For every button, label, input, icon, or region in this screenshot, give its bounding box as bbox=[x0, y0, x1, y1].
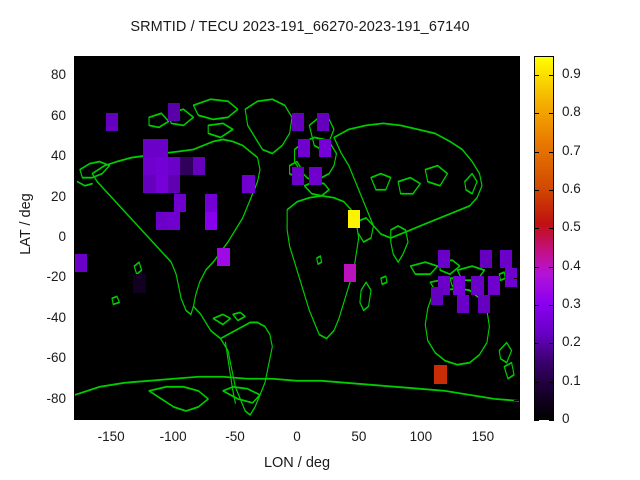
x-tick-mark bbox=[297, 56, 298, 62]
y-tick-mark bbox=[74, 198, 80, 199]
x-tick-label: 150 bbox=[453, 429, 513, 444]
colorbar-tick-label: 0 bbox=[562, 411, 570, 426]
colorbar-gradient bbox=[535, 57, 553, 419]
heatmap-cell bbox=[205, 194, 217, 212]
colorbar-tick-mark bbox=[534, 305, 539, 306]
y-tick-mark bbox=[74, 238, 80, 239]
heatmap-cell bbox=[471, 276, 483, 294]
heatmap-cell bbox=[319, 139, 331, 157]
colorbar-tick-mark bbox=[549, 420, 554, 421]
heatmap-cell bbox=[344, 264, 356, 282]
heatmap-cell bbox=[434, 365, 446, 383]
y-tick-mark bbox=[74, 157, 80, 158]
heatmap-cell bbox=[500, 250, 512, 268]
heatmap-cell bbox=[317, 113, 329, 131]
heatmap-cell bbox=[168, 212, 180, 230]
heatmap-cell bbox=[168, 175, 180, 193]
y-tick-mark bbox=[514, 400, 520, 401]
colorbar-tick-mark bbox=[534, 113, 539, 114]
heatmap-cell bbox=[168, 157, 180, 175]
heatmap-cell bbox=[292, 113, 304, 131]
heatmap-cell bbox=[168, 103, 180, 121]
y-tick-label: 60 bbox=[22, 108, 66, 123]
colorbar-tick-mark bbox=[549, 228, 554, 229]
y-tick-mark bbox=[514, 157, 520, 158]
x-tick-mark bbox=[235, 56, 236, 62]
colorbar-tick-label: 0.6 bbox=[562, 181, 581, 196]
x-tick-label: 100 bbox=[391, 429, 451, 444]
heatmap-cell bbox=[75, 254, 87, 272]
heatmap-cell bbox=[217, 248, 229, 266]
x-tick-mark bbox=[111, 414, 112, 420]
x-tick-label: -150 bbox=[81, 429, 141, 444]
heatmap-cell bbox=[298, 139, 310, 157]
y-tick-mark bbox=[74, 76, 80, 77]
y-tick-label: 80 bbox=[22, 67, 66, 82]
y-tick-mark bbox=[514, 238, 520, 239]
x-tick-mark bbox=[359, 414, 360, 420]
y-tick-mark bbox=[74, 359, 80, 360]
x-tick-label: 0 bbox=[267, 429, 327, 444]
y-tick-mark bbox=[514, 76, 520, 77]
y-tick-mark bbox=[514, 117, 520, 118]
map-plot-area bbox=[74, 56, 520, 420]
colorbar-tick-label: 0.2 bbox=[562, 334, 581, 349]
colorbar-tick-mark bbox=[549, 305, 554, 306]
x-tick-mark bbox=[173, 56, 174, 62]
colorbar-tick-label: 0.9 bbox=[562, 66, 581, 81]
colorbar-tick-label: 0.8 bbox=[562, 104, 581, 119]
heatmap-cell bbox=[180, 157, 192, 175]
heatmap-cell bbox=[156, 157, 168, 175]
heatmap-cell bbox=[488, 276, 500, 294]
colorbar-tick-mark bbox=[534, 420, 539, 421]
colorbar-tick-mark bbox=[549, 267, 554, 268]
y-tick-label: -40 bbox=[22, 310, 66, 325]
x-tick-mark bbox=[111, 56, 112, 62]
heatmap-cell bbox=[457, 295, 469, 313]
figure-canvas: SRMTID / TECU 2023-191_66270-2023-191_67… bbox=[0, 0, 640, 480]
heatmap-cell bbox=[453, 276, 465, 294]
heatmap-cell bbox=[143, 157, 155, 175]
x-tick-mark bbox=[483, 56, 484, 62]
y-axis-title: LAT / deg bbox=[18, 154, 34, 294]
heatmap-cell bbox=[348, 210, 360, 228]
heatmap-cell bbox=[156, 212, 168, 230]
colorbar-tick-label: 0.1 bbox=[562, 373, 581, 388]
heatmap-cell bbox=[292, 167, 304, 185]
x-tick-mark bbox=[235, 414, 236, 420]
y-tick-mark bbox=[514, 198, 520, 199]
colorbar-tick-label: 0.4 bbox=[562, 258, 581, 273]
x-tick-label: -100 bbox=[143, 429, 203, 444]
colorbar-tick-mark bbox=[534, 343, 539, 344]
heatmap-cell bbox=[193, 157, 205, 175]
x-tick-mark bbox=[483, 414, 484, 420]
heatmap-cell bbox=[309, 167, 321, 185]
x-tick-mark bbox=[359, 56, 360, 62]
heatmap-cell bbox=[156, 139, 168, 157]
heatmap-cell bbox=[133, 274, 145, 292]
colorbar-tick-label: 0.5 bbox=[562, 219, 581, 234]
colorbar-tick-mark bbox=[534, 75, 539, 76]
heatmap-cell bbox=[438, 250, 450, 268]
heatmap-cell bbox=[143, 175, 155, 193]
y-tick-label: -80 bbox=[22, 391, 66, 406]
x-tick-mark bbox=[173, 414, 174, 420]
y-tick-mark bbox=[74, 400, 80, 401]
heatmap-cell bbox=[205, 212, 217, 230]
colorbar-tick-mark bbox=[549, 343, 554, 344]
colorbar-tick-mark bbox=[549, 190, 554, 191]
heatmap-cell bbox=[174, 194, 186, 212]
colorbar-tick-label: 0.3 bbox=[562, 296, 581, 311]
x-tick-mark bbox=[421, 414, 422, 420]
colorbar-tick-mark bbox=[549, 113, 554, 114]
heatmap-cell bbox=[242, 175, 254, 193]
y-tick-mark bbox=[514, 319, 520, 320]
heatmap-cell bbox=[431, 287, 443, 305]
x-tick-label: -50 bbox=[205, 429, 265, 444]
x-axis-title: LON / deg bbox=[74, 455, 520, 471]
y-tick-mark bbox=[514, 278, 520, 279]
colorbar-tick-mark bbox=[534, 267, 539, 268]
y-tick-mark bbox=[74, 278, 80, 279]
x-tick-mark bbox=[297, 414, 298, 420]
colorbar-tick-mark bbox=[534, 228, 539, 229]
y-tick-label: -60 bbox=[22, 350, 66, 365]
x-tick-label: 50 bbox=[329, 429, 389, 444]
y-tick-mark bbox=[74, 117, 80, 118]
colorbar-tick-mark bbox=[534, 152, 539, 153]
heatmap-cell bbox=[106, 113, 118, 131]
heatmap-cell bbox=[505, 268, 517, 286]
chart-title: SRMTID / TECU 2023-191_66270-2023-191_67… bbox=[0, 19, 600, 35]
y-tick-mark bbox=[74, 319, 80, 320]
x-tick-mark bbox=[421, 56, 422, 62]
colorbar-tick-mark bbox=[549, 75, 554, 76]
colorbar-tick-mark bbox=[549, 382, 554, 383]
heatmap-cell bbox=[478, 295, 490, 313]
colorbar-tick-mark bbox=[534, 382, 539, 383]
colorbar-tick-mark bbox=[549, 152, 554, 153]
colorbar bbox=[534, 56, 554, 420]
heatmap-cell bbox=[143, 139, 155, 157]
heatmap-cell bbox=[480, 250, 492, 268]
colorbar-tick-label: 0.7 bbox=[562, 143, 581, 158]
colorbar-tick-mark bbox=[534, 190, 539, 191]
heatmap-cell bbox=[156, 175, 168, 193]
heatmap-cells bbox=[75, 57, 519, 419]
y-tick-mark bbox=[514, 359, 520, 360]
